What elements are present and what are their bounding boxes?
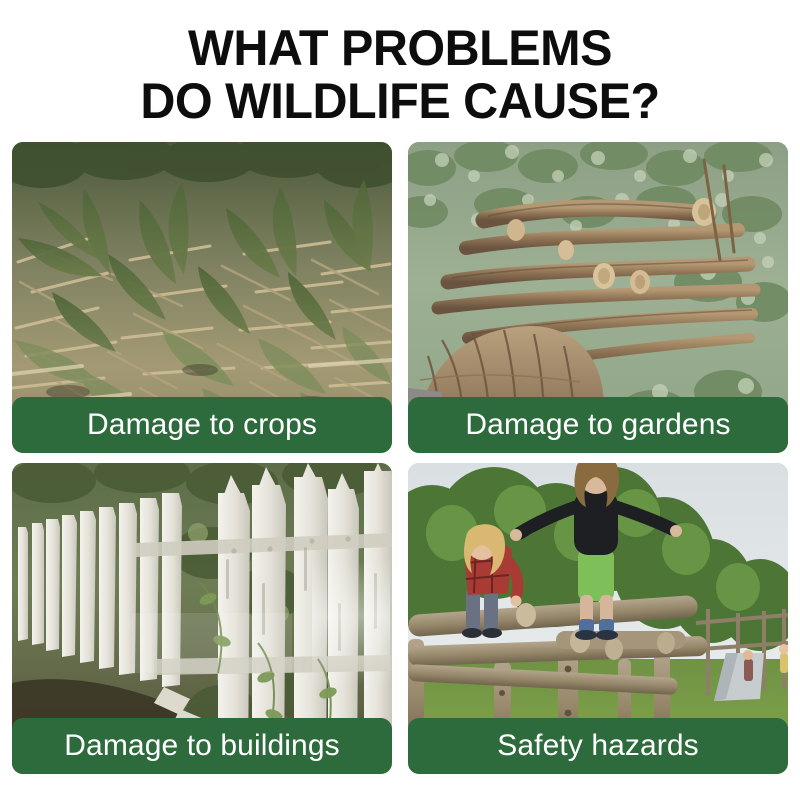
page-title-line-2: DO WILDLIFE CAUSE? [12, 75, 788, 128]
problem-card-buildings[interactable]: Damage to buildings [12, 463, 392, 774]
problem-card-safety-hazards[interactable]: Safety hazards [408, 463, 788, 774]
problem-card-gardens[interactable]: Damage to gardens [408, 142, 788, 453]
caption-label-gardens: Damage to gardens [465, 410, 730, 440]
caption-label-crops: Damage to crops [87, 410, 317, 440]
caption-label-safety-hazards: Safety hazards [497, 731, 699, 761]
caption-bar-crops: Damage to crops [12, 397, 392, 453]
page-title: WHAT PROBLEMS DO WILDLIFE CAUSE? [0, 22, 800, 128]
caption-bar-buildings: Damage to buildings [12, 718, 392, 774]
caption-bar-gardens: Damage to gardens [408, 397, 788, 453]
caption-bar-safety-hazards: Safety hazards [408, 718, 788, 774]
problem-cards-grid: Damage to crops [12, 142, 788, 774]
page-title-line-1: WHAT PROBLEMS [12, 22, 788, 75]
infographic-poster: WHAT PROBLEMS DO WILDLIFE CAUSE? [0, 0, 800, 800]
caption-label-buildings: Damage to buildings [64, 731, 339, 761]
problem-card-crops[interactable]: Damage to crops [12, 142, 392, 453]
